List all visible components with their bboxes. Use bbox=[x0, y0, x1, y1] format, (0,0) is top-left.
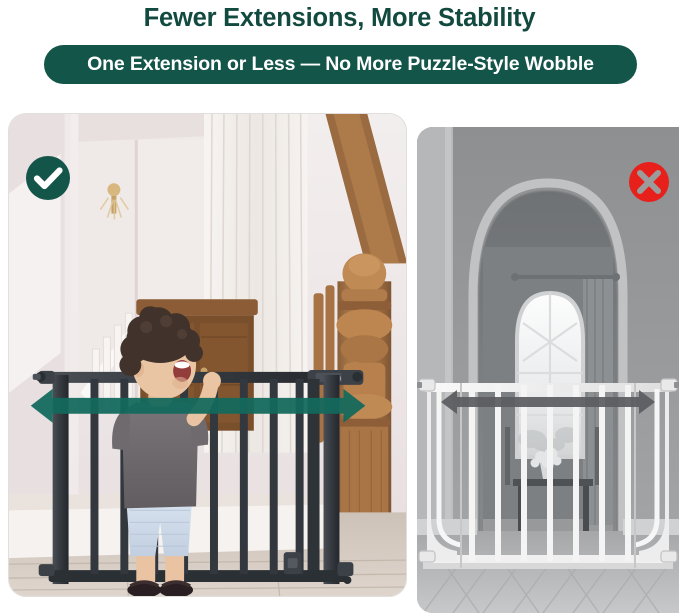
promo-graphic: Fewer Extensions, More Stability One Ext… bbox=[0, 0, 679, 613]
page-title: Fewer Extensions, More Stability bbox=[0, 2, 679, 34]
bad-scene-description: White baby gate with multiple extension … bbox=[0, 0, 1, 1]
check-circle-icon bbox=[24, 154, 72, 202]
comparison-row: Babelio bbox=[0, 100, 679, 613]
x-circle-icon bbox=[627, 160, 671, 204]
status-badge-label: One Extension or Less — No More Puzzle-S… bbox=[87, 55, 594, 75]
status-badge: One Extension or Less — No More Puzzle-S… bbox=[44, 45, 637, 84]
good-scene-description: Dark metal baby gate installed in a stai… bbox=[0, 0, 1, 1]
